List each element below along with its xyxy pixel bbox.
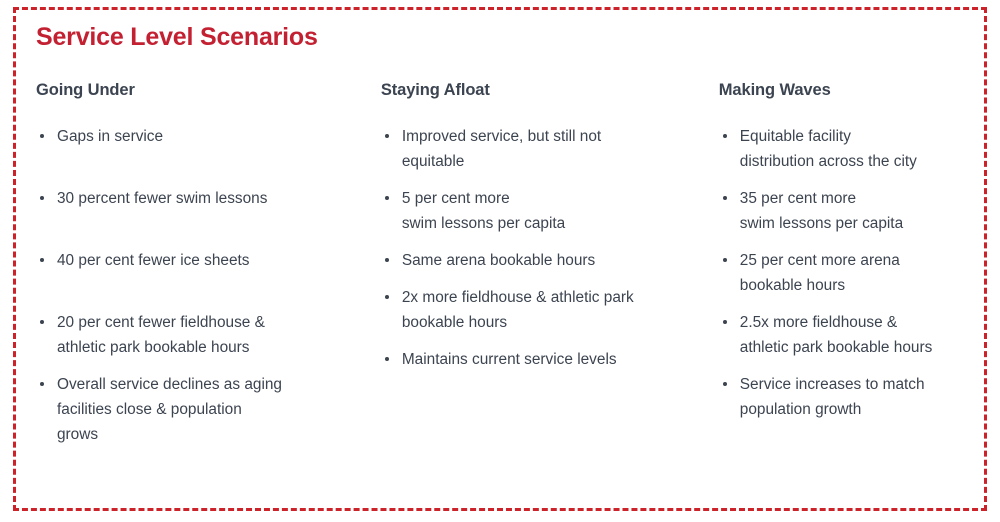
bullet-dot-icon — [385, 196, 389, 200]
column-heading-staying-afloat: Staying Afloat — [381, 81, 699, 100]
scenario-column-making-waves: Making Waves Equitable facility distribu… — [699, 81, 984, 447]
column-heading-making-waves: Making Waves — [719, 81, 984, 100]
list-item-text: Overall service declines as aging facili… — [57, 372, 361, 447]
list-item-text: 25 per cent more arena bookable hours — [740, 248, 984, 298]
list-item: 5 per cent more swim lessons per capita — [381, 186, 699, 236]
bullet-dot-icon — [40, 382, 44, 386]
list-item-text: 5 per cent more swim lessons per capita — [402, 186, 699, 236]
list-item: Overall service declines as aging facili… — [36, 372, 361, 447]
list-item-text: Gaps in service — [57, 124, 361, 149]
list-item-text: 40 per cent fewer ice sheets — [57, 248, 361, 273]
bullet-dot-icon — [40, 134, 44, 138]
list-item-text: Service increases to match population gr… — [740, 372, 984, 422]
scenario-columns: Going Under Gaps in service 30 percent f… — [16, 81, 984, 447]
bullet-dot-icon — [723, 320, 727, 324]
list-item: Same arena bookable hours — [381, 248, 699, 273]
service-level-scenarios-panel: Service Level Scenarios Going Under Gaps… — [13, 7, 987, 511]
list-item-text: 2x more fieldhouse & athletic park booka… — [402, 285, 699, 335]
scenario-column-staying-afloat: Staying Afloat Improved service, but sti… — [361, 81, 699, 447]
column-heading-going-under: Going Under — [36, 81, 361, 100]
bullet-dot-icon — [723, 196, 727, 200]
bullet-dot-icon — [723, 382, 727, 386]
list-item: 30 percent fewer swim lessons — [36, 186, 361, 211]
list-item: Equitable facility distribution across t… — [719, 124, 984, 174]
bullet-dot-icon — [385, 134, 389, 138]
list-item: Improved service, but still not equitabl… — [381, 124, 699, 174]
list-item: 25 per cent more arena bookable hours — [719, 248, 984, 298]
bullet-dot-icon — [723, 258, 727, 262]
list-item: 2x more fieldhouse & athletic park booka… — [381, 285, 699, 335]
list-item: 2.5x more fieldhouse & athletic park boo… — [719, 310, 984, 360]
list-item: Maintains current service levels — [381, 347, 699, 372]
list-item-text: 30 percent fewer swim lessons — [57, 186, 361, 211]
bullet-dot-icon — [40, 196, 44, 200]
list-item-text: Equitable facility distribution across t… — [740, 124, 984, 174]
bullet-dot-icon — [40, 258, 44, 262]
list-item-text: 20 per cent fewer fieldhouse & athletic … — [57, 310, 361, 360]
list-item: Service increases to match population gr… — [719, 372, 984, 422]
list-item: Gaps in service — [36, 124, 361, 149]
bullet-dot-icon — [40, 320, 44, 324]
list-item: 35 per cent more swim lessons per capita — [719, 186, 984, 236]
bullet-dot-icon — [385, 357, 389, 361]
list-item-text: Maintains current service levels — [402, 347, 699, 372]
page-title: Service Level Scenarios — [36, 23, 318, 52]
bullet-list-making-waves: Equitable facility distribution across t… — [719, 124, 984, 422]
list-item: 40 per cent fewer ice sheets — [36, 248, 361, 273]
bullet-dot-icon — [723, 134, 727, 138]
list-item-text: 35 per cent more swim lessons per capita — [740, 186, 984, 236]
list-item: 20 per cent fewer fieldhouse & athletic … — [36, 310, 361, 360]
list-item-text: Same arena bookable hours — [402, 248, 699, 273]
bullet-list-staying-afloat: Improved service, but still not equitabl… — [381, 124, 699, 372]
list-item-text: 2.5x more fieldhouse & athletic park boo… — [740, 310, 984, 360]
list-item-text: Improved service, but still not equitabl… — [402, 124, 699, 174]
bullet-list-going-under: Gaps in service 30 percent fewer swim le… — [36, 124, 361, 447]
bullet-dot-icon — [385, 258, 389, 262]
scenario-column-going-under: Going Under Gaps in service 30 percent f… — [16, 81, 361, 447]
bullet-dot-icon — [385, 295, 389, 299]
